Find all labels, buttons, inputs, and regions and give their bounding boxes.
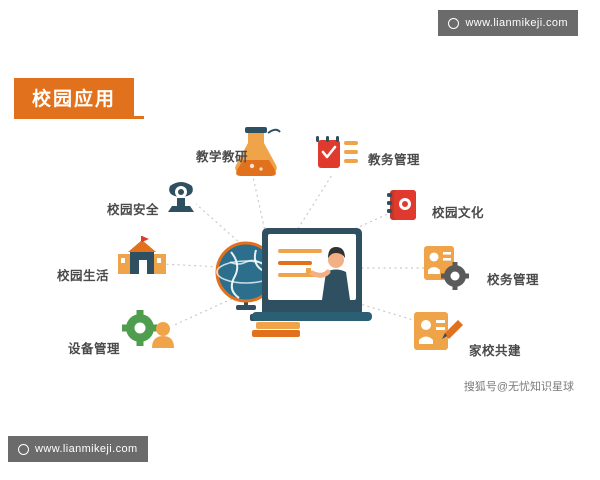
camera-icon <box>168 182 194 212</box>
globe-icon <box>448 18 459 29</box>
watermark-top: www.lianmikeji.com <box>438 10 578 36</box>
laptop-icon <box>252 228 372 321</box>
label-teaching-research: 教学教研 <box>196 146 248 165</box>
id-card-icon <box>414 312 463 350</box>
diagram-page: 校园应用 教学教研 教务管理 校园安全 校园文化 校园生活 校务管理 设备管理 … <box>0 0 600 480</box>
label-home-school-cooperation: 家校共建 <box>469 340 521 359</box>
school-building-icon <box>118 236 166 274</box>
label-school-administration: 校务管理 <box>487 269 539 288</box>
label-equipment-management: 设备管理 <box>68 338 120 357</box>
laptop-globe-illustration <box>217 228 372 337</box>
book-icon <box>387 190 416 220</box>
source-credit: 搜狐号@无忧知识星球 <box>464 378 574 394</box>
watermark-top-text: www.lianmikeji.com <box>465 17 568 29</box>
label-campus-culture: 校园文化 <box>432 202 484 221</box>
label-campus-life: 校园生活 <box>57 265 109 284</box>
campus-application-diagram <box>0 0 600 480</box>
label-academic-affairs: 教务管理 <box>368 149 420 168</box>
title-underline <box>14 116 144 119</box>
watermark-bottom: www.lianmikeji.com <box>8 436 148 462</box>
checklist-icon <box>316 136 358 168</box>
gear-icon <box>122 310 158 346</box>
page-title: 校园应用 <box>14 78 134 116</box>
page-title-text: 校园应用 <box>32 84 116 111</box>
person-gear-icon <box>424 246 469 290</box>
watermark-bottom-text: www.lianmikeji.com <box>35 443 138 455</box>
gear-person-icon <box>122 310 174 348</box>
globe-icon <box>18 444 29 455</box>
label-campus-safety: 校园安全 <box>107 199 159 218</box>
